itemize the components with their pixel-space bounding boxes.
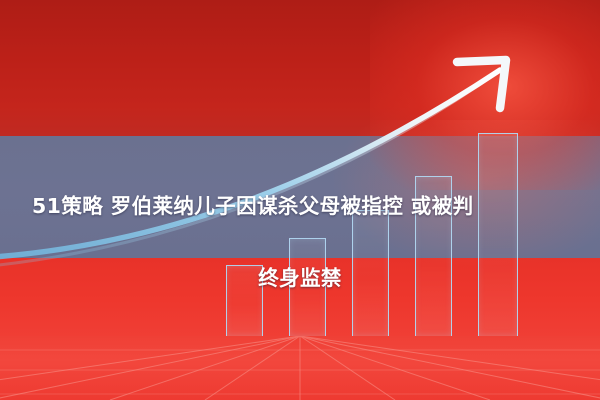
headline-line-2: 终身监禁 [24,260,576,296]
headline-line-1: 51策略 罗伯莱纳儿子因谋杀父母被指控 或被判 [24,188,576,224]
headline-text: 51策略 罗伯莱纳儿子因谋杀父母被指控 或被判 终身监禁 [0,152,600,332]
poster-canvas: 51策略 罗伯莱纳儿子因谋杀父母被指控 或被判 终身监禁 [0,0,600,400]
